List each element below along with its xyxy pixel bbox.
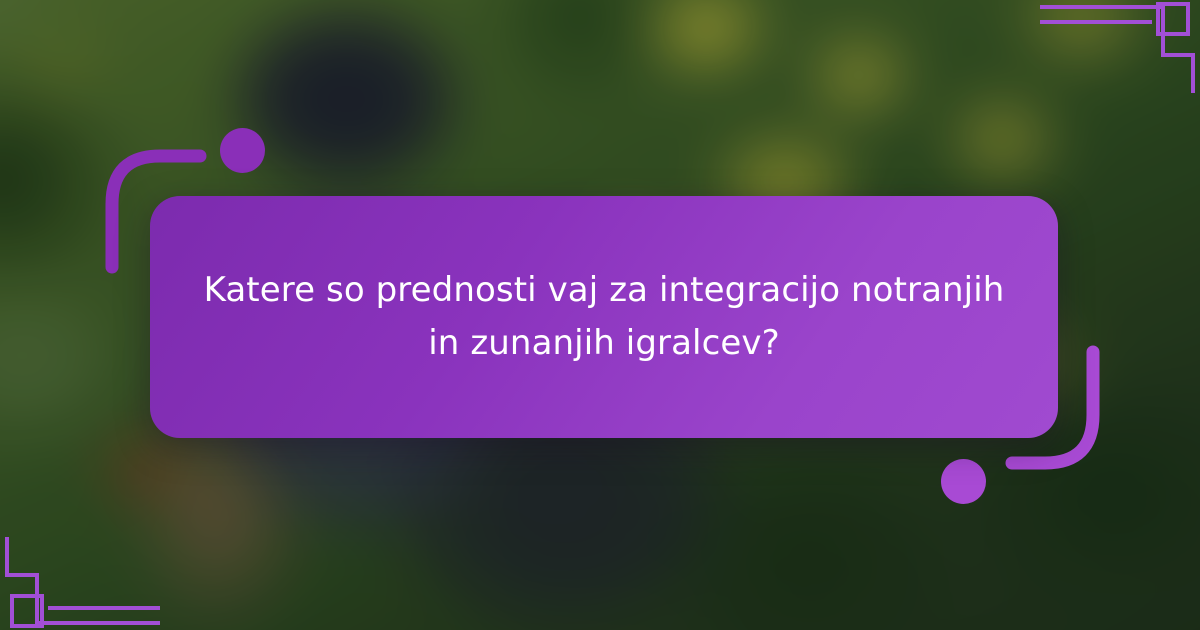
question-card: Katere so prednosti vaj za integracijo n…	[150, 196, 1058, 438]
circuit-trace-node	[10, 594, 44, 628]
circuit-trace-line	[1191, 53, 1195, 93]
circuit-trace-line	[38, 621, 160, 625]
share-card-canvas: Katere so prednosti vaj za integracijo n…	[0, 0, 1200, 630]
circuit-trace-line	[1040, 5, 1162, 9]
circuit-trace-line	[5, 537, 9, 577]
accent-dot-top-left	[220, 128, 265, 173]
card-title: Katere so prednosti vaj za integracijo n…	[150, 264, 1058, 369]
circuit-trace-top-right-decoration	[1040, 0, 1200, 120]
circuit-trace-line	[1040, 20, 1152, 24]
circuit-trace-line	[48, 606, 160, 610]
circuit-trace-node	[1156, 2, 1190, 36]
circuit-trace-bottom-left-decoration	[0, 510, 160, 630]
circuit-trace-line	[5, 573, 39, 577]
circuit-trace-line	[1161, 53, 1195, 57]
accent-dot-bottom-right	[941, 459, 986, 504]
